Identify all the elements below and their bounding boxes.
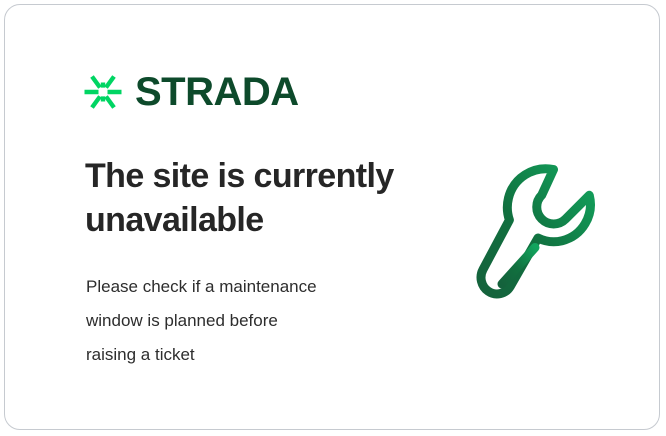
description-line: window is planned before: [86, 304, 386, 338]
maintenance-description: Please check if a maintenance window is …: [86, 270, 386, 372]
page-title: The site is currently unavailable: [85, 155, 425, 242]
description-line: Please check if a maintenance: [86, 270, 386, 304]
brand-wordmark: STRADA: [135, 72, 299, 112]
wrench-illustration: [457, 155, 621, 319]
description-line: raising a ticket: [86, 338, 386, 372]
maintenance-notice-card: STRADA The site is currently unavailable…: [4, 4, 660, 430]
brand-logo: STRADA: [83, 71, 299, 113]
wrench-icon: [457, 155, 621, 319]
strada-asterisk-mark-icon: [83, 71, 123, 113]
